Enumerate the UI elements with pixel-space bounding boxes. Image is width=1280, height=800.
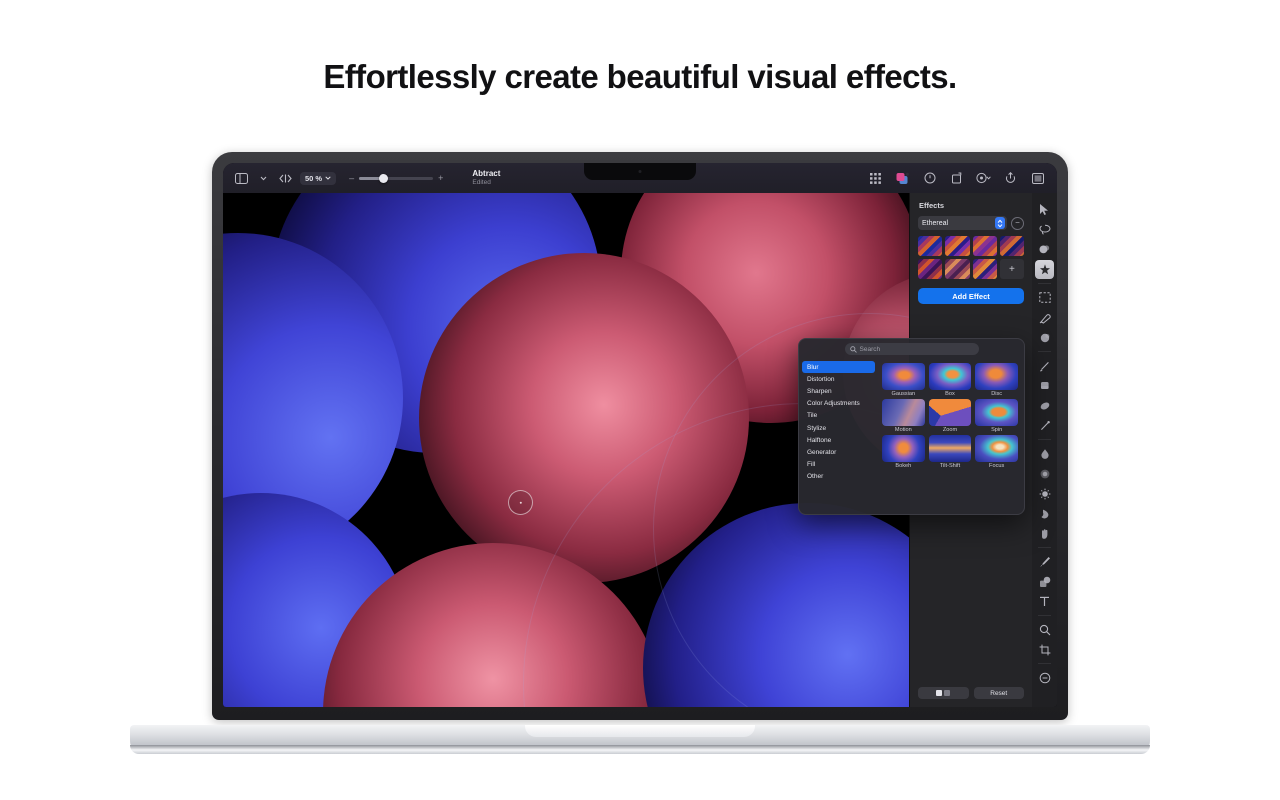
hand-tool[interactable] — [1035, 524, 1054, 543]
popover-header: Search — [799, 339, 1024, 359]
eraser-tool[interactable] — [1035, 376, 1054, 395]
effects-browser-popover: Search Blur Distortion Sharpen Color Adj… — [798, 338, 1025, 515]
effect-item-zoom[interactable]: Zoom — [929, 399, 972, 433]
laptop-base-edge — [130, 745, 1150, 754]
zoom-slider[interactable]: – + — [349, 174, 443, 183]
dodge-tool[interactable] — [1035, 484, 1054, 503]
category-item-fill[interactable]: Fill — [802, 459, 875, 471]
compare-split-icon[interactable] — [278, 171, 293, 186]
settings-tool[interactable] — [1035, 668, 1054, 687]
add-preset-button[interactable]: + — [1000, 259, 1024, 279]
preset-thumbnail[interactable] — [973, 259, 997, 279]
info-circle-icon[interactable] — [922, 171, 937, 186]
inspector-title: Effects — [910, 193, 1032, 216]
zoom-level-select[interactable]: 50 % — [300, 172, 336, 185]
preset-thumbnail[interactable] — [1000, 236, 1024, 256]
popover-body: Blur Distortion Sharpen Color Adjustment… — [799, 359, 1024, 514]
preset-thumbnail-grid: + — [918, 236, 1024, 279]
crop-rotate-icon[interactable] — [949, 171, 964, 186]
retouch-tool[interactable] — [1035, 308, 1054, 327]
pointer-tool[interactable] — [1035, 200, 1054, 219]
effect-thumbnail — [975, 435, 1018, 462]
tool-rail — [1032, 193, 1057, 707]
effect-label: Gaussian — [892, 391, 916, 397]
laptop-base — [130, 725, 1150, 754]
text-tool[interactable] — [1035, 592, 1054, 611]
effect-thumbnail — [975, 363, 1018, 390]
category-item-blur[interactable]: Blur — [802, 361, 875, 373]
category-item-sharpen[interactable]: Sharpen — [802, 385, 875, 397]
lasso-tool[interactable] — [1035, 220, 1054, 239]
smudge-tool[interactable] — [1035, 444, 1054, 463]
color-tool[interactable] — [1035, 240, 1054, 259]
effect-thumbnail — [929, 363, 972, 390]
camera-notch — [584, 163, 696, 180]
brush-tool[interactable] — [1035, 356, 1054, 375]
rail-divider — [1038, 351, 1051, 352]
preset-select[interactable]: Ethereal — [918, 216, 1007, 230]
slider-knob[interactable] — [379, 174, 388, 183]
effect-thumbnail — [882, 399, 925, 426]
category-item-generator[interactable]: Generator — [802, 446, 875, 458]
compare-toggle[interactable] — [918, 687, 969, 699]
zoom-out-label[interactable]: – — [349, 174, 354, 183]
effect-item-box[interactable]: Box — [929, 363, 972, 397]
effect-item-focus[interactable]: Focus — [975, 435, 1018, 469]
preset-thumbnail[interactable] — [918, 236, 942, 256]
chevron-down-icon[interactable] — [256, 171, 271, 186]
category-item-halftone[interactable]: Halftone — [802, 434, 875, 446]
rail-divider — [1038, 547, 1051, 548]
effect-item-tilt-shift[interactable]: Tilt-Shift — [929, 435, 972, 469]
macbook-mockup: 50 % – + Abtract — [130, 152, 1150, 762]
crop-tool[interactable] — [1035, 640, 1054, 659]
effect-item-gaussian[interactable]: Gaussian — [882, 363, 925, 397]
paint-bucket-tool[interactable] — [1035, 396, 1054, 415]
adjust-icon[interactable] — [976, 171, 991, 186]
category-item-stylize[interactable]: Stylize — [802, 422, 875, 434]
compare-before-icon — [936, 690, 942, 696]
burn-tool[interactable] — [1035, 504, 1054, 523]
search-placeholder: Search — [860, 346, 881, 353]
effect-item-bokeh[interactable]: Bokeh — [882, 435, 925, 469]
search-icon — [850, 346, 857, 353]
effect-label: Box — [945, 391, 955, 397]
effect-label: Spin — [991, 427, 1002, 433]
category-item-tile[interactable]: Tile — [802, 410, 875, 422]
chevron-down-icon — [325, 176, 331, 180]
rail-divider — [1038, 663, 1051, 664]
preset-select-value: Ethereal — [922, 220, 948, 227]
compare-after-icon — [944, 690, 950, 696]
pen-tool[interactable] — [1035, 552, 1054, 571]
effect-label: Bokeh — [895, 463, 911, 469]
slider-fill — [359, 177, 381, 180]
magic-wand-tool[interactable] — [1035, 260, 1054, 279]
effect-label: Zoom — [943, 427, 957, 433]
shape-tool[interactable] — [1035, 572, 1054, 591]
share-icon[interactable] — [1003, 171, 1018, 186]
rail-divider — [1038, 439, 1051, 440]
effect-label: Focus — [989, 463, 1004, 469]
preset-row: Ethereal − — [918, 216, 1024, 230]
document-title-block: Abtract Edited — [472, 170, 500, 186]
preset-thumbnail[interactable] — [918, 259, 942, 279]
inspector-footer: Reset — [910, 681, 1032, 707]
rail-divider — [1038, 283, 1051, 284]
preset-thumbnail[interactable] — [945, 259, 969, 279]
laptop-screen: 50 % – + Abtract — [223, 163, 1057, 707]
rail-divider — [1038, 615, 1051, 616]
effect-thumbnail — [882, 435, 925, 462]
preset-thumbnail[interactable] — [973, 236, 997, 256]
document-title: Abtract — [472, 170, 500, 179]
toolbar-right-group — [868, 171, 1057, 186]
page-root: Effortlessly create beautiful visual eff… — [0, 0, 1280, 800]
page-title: Effortlessly create beautiful visual eff… — [0, 58, 1280, 96]
effect-label: Motion — [895, 427, 912, 433]
effect-thumbnail — [882, 363, 925, 390]
search-input[interactable]: Search — [845, 343, 979, 355]
add-effect-button[interactable]: Add Effect — [918, 288, 1024, 304]
toolbar-left-group: 50 % – + Abtract — [223, 170, 500, 186]
category-list: Blur Distortion Sharpen Color Adjustment… — [799, 359, 878, 514]
effect-label: Tilt-Shift — [940, 463, 960, 469]
category-item-distortion[interactable]: Distortion — [802, 373, 875, 385]
zoom-in-label[interactable]: + — [438, 174, 443, 183]
effect-item-spin[interactable]: Spin — [975, 399, 1018, 433]
inspector-body: Ethereal − — [910, 216, 1032, 279]
rectangle-select-tool[interactable] — [1035, 288, 1054, 307]
blur-tool[interactable] — [1035, 464, 1054, 483]
slider-track[interactable] — [359, 177, 433, 180]
layout-icon[interactable] — [1030, 171, 1045, 186]
effect-grid: Gaussian Box Disc — [878, 359, 1024, 514]
effect-label: Disc — [991, 391, 1002, 397]
reset-button[interactable]: Reset — [974, 687, 1025, 699]
effect-item-disc[interactable]: Disc — [975, 363, 1018, 397]
zoom-level-value: 50 % — [305, 174, 322, 183]
zoom-tool[interactable] — [1035, 620, 1054, 639]
laptop-lid: 50 % – + Abtract — [212, 152, 1068, 720]
sidebar-icon[interactable] — [234, 171, 249, 186]
preset-thumbnail[interactable] — [945, 236, 969, 256]
clone-tool[interactable] — [1035, 328, 1054, 347]
effect-thumbnail — [929, 399, 972, 426]
gradient-tool[interactable] — [1035, 416, 1054, 435]
effects-icon[interactable] — [895, 171, 910, 186]
document-status: Edited — [472, 179, 500, 186]
brush-cursor — [508, 490, 533, 515]
effect-item-motion[interactable]: Motion — [882, 399, 925, 433]
category-item-color-adjustments[interactable]: Color Adjustments — [802, 398, 875, 410]
grid-icon[interactable] — [868, 171, 883, 186]
effect-thumbnail — [975, 399, 1018, 426]
remove-preset-button[interactable]: − — [1011, 217, 1024, 230]
chevron-updown-icon — [995, 217, 1005, 229]
effect-thumbnail — [929, 435, 972, 462]
category-item-other[interactable]: Other — [802, 471, 875, 483]
